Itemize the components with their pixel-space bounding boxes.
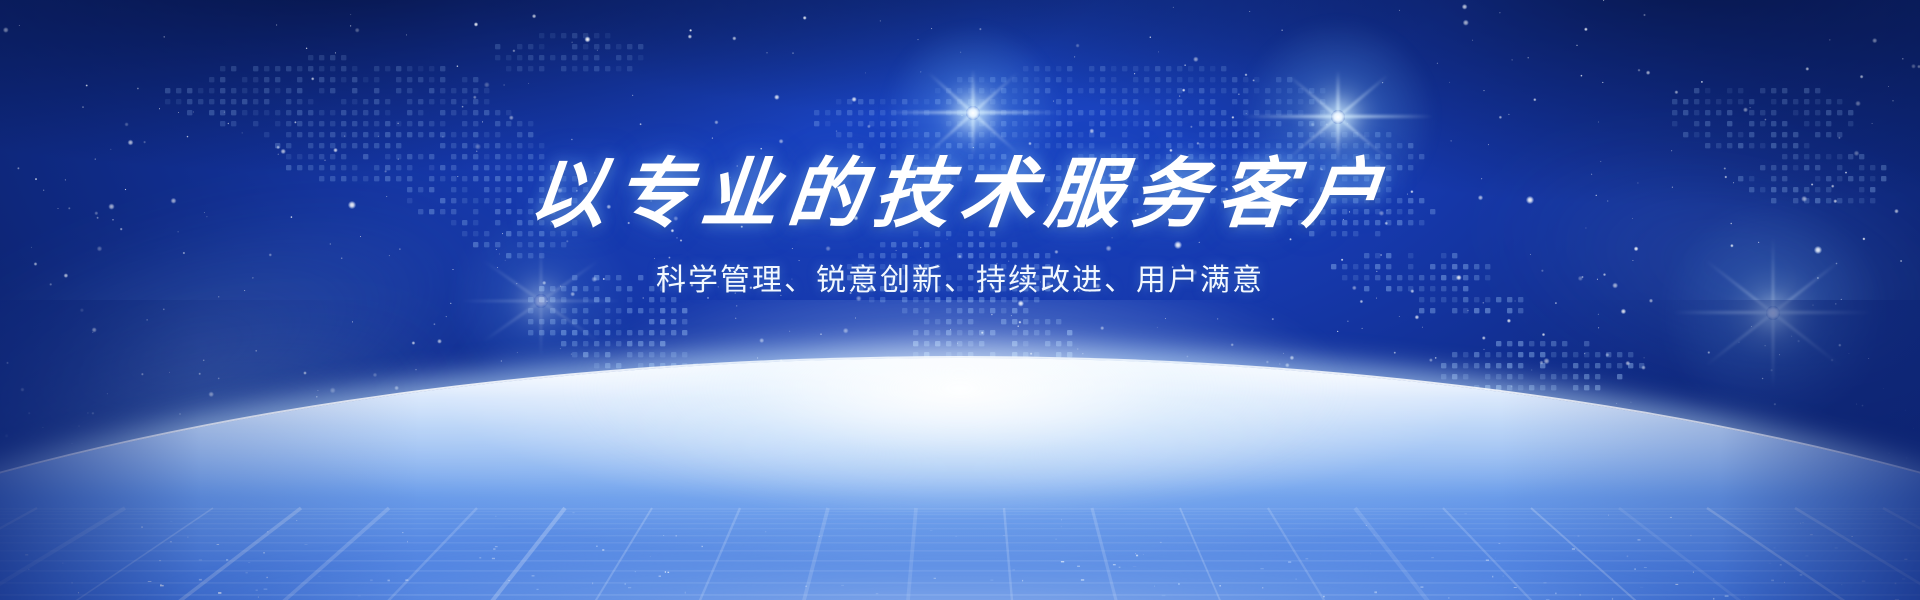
- world-dot-map-icon: [0, 0, 1920, 520]
- hero-copy: 以专业的技术服务客户 科学管理、锐意创新、持续改进、用户满意: [0, 0, 1920, 600]
- nebula-wisp-icon: [0, 0, 689, 600]
- page-subtitle: 科学管理、锐意创新、持续改进、用户满意: [656, 266, 1264, 296]
- nebula-wisp-icon: [0, 173, 610, 600]
- globe-horizon-icon: [0, 300, 1920, 600]
- city-grid-icon: [0, 358, 1920, 600]
- lens-flare-icon: [1772, 312, 1773, 313]
- sky-vignette: [0, 0, 1920, 600]
- lens-flare-icon: [1337, 116, 1338, 117]
- hero-banner: 以专业的技术服务客户 科学管理、锐意创新、持续改进、用户满意: [0, 0, 1920, 600]
- page-title: 以专业的技术服务客户: [526, 156, 1394, 232]
- lens-flare-icon: [540, 300, 541, 301]
- starfield-icon: [0, 0, 1920, 600]
- nebula-wisp-icon: [1325, 0, 1920, 554]
- lens-flare-icon: [972, 112, 973, 113]
